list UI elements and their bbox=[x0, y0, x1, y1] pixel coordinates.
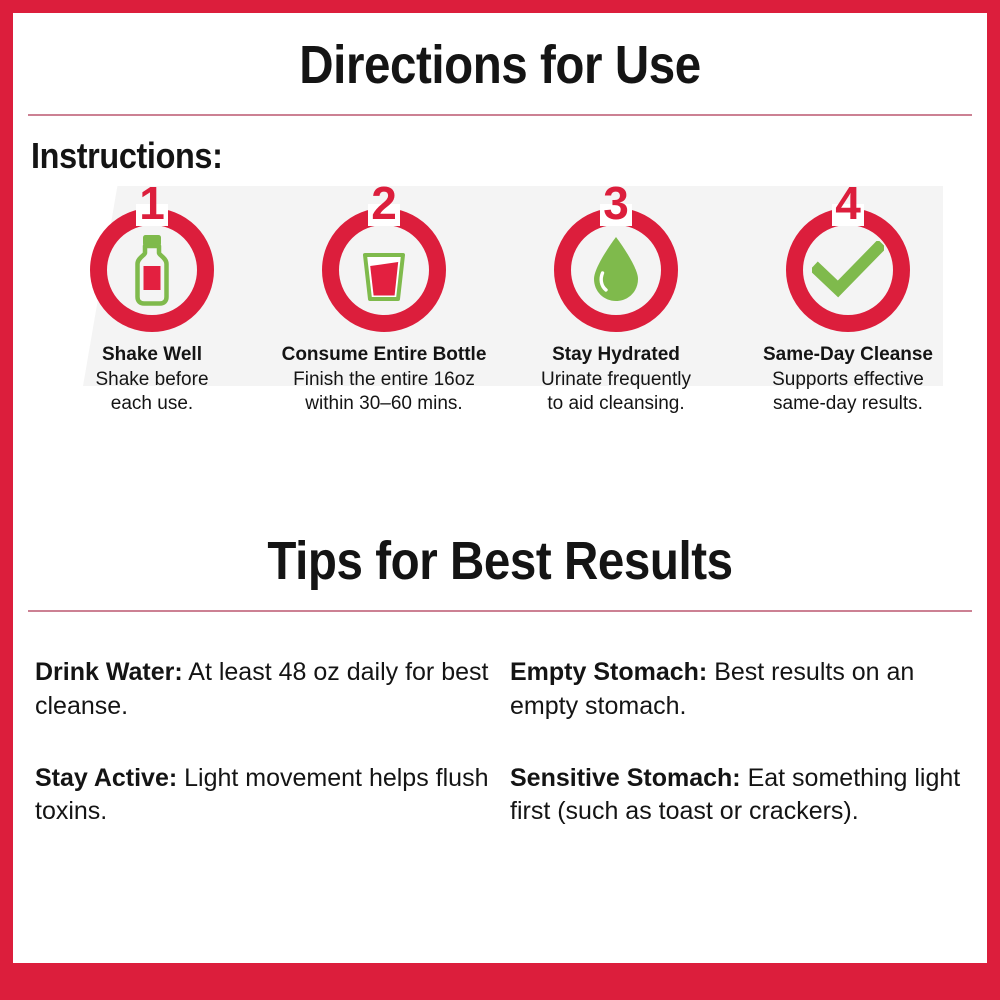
instruction-card: Directions for Use Instructions: 1 bbox=[13, 13, 987, 963]
step-item-1: 1 Shake Well Shake before each use. bbox=[43, 182, 261, 416]
tip-label: Empty Stomach: bbox=[510, 658, 707, 686]
step-name-1: Shake Well bbox=[102, 344, 202, 367]
step-number-4: 4 bbox=[786, 180, 910, 226]
step-desc-1: Shake before each use. bbox=[95, 368, 208, 417]
step-number-2: 2 bbox=[322, 180, 446, 226]
step-name-2: Consume Entire Bottle bbox=[282, 344, 487, 367]
step-name-4: Same-Day Cleanse bbox=[763, 344, 933, 367]
tip-label: Drink Water: bbox=[35, 658, 183, 686]
step-item-2: 2 Consume Entire Bottle Finish the entir… bbox=[275, 182, 493, 416]
step-badge-4: 4 bbox=[786, 182, 910, 332]
steps-section: 1 Shake Well Shake before each use. bbox=[13, 182, 987, 472]
step-badge-2: 2 bbox=[322, 182, 446, 332]
step-name-3: Stay Hydrated bbox=[552, 344, 680, 367]
tips-title: Tips for Best Results bbox=[71, 534, 928, 588]
step-badge-1: 1 bbox=[90, 182, 214, 332]
tip-label: Stay Active: bbox=[35, 764, 177, 792]
step-desc-2: Finish the entire 16oz within 30–60 mins… bbox=[293, 368, 475, 417]
tip-item: Drink Water: At least 48 oz daily for be… bbox=[35, 656, 490, 724]
step-number-1: 1 bbox=[90, 180, 214, 226]
steps-row: 1 Shake Well Shake before each use. bbox=[13, 182, 987, 416]
step-desc-3: Urinate frequently to aid cleansing. bbox=[541, 368, 691, 417]
tip-item: Empty Stomach: Best results on an empty … bbox=[510, 656, 965, 724]
tip-label: Sensitive Stomach: bbox=[510, 764, 741, 792]
step-item-3: 3 Stay Hydrated Urinate frequently to ai… bbox=[507, 182, 725, 416]
tips-grid: Drink Water: At least 48 oz daily for be… bbox=[13, 612, 987, 829]
step-item-4: 4 Same-Day Cleanse Supports effective sa… bbox=[739, 182, 957, 416]
tip-item: Stay Active: Light movement helps flush … bbox=[35, 762, 490, 830]
instructions-label: Instructions: bbox=[13, 116, 890, 174]
step-number-3: 3 bbox=[554, 180, 678, 226]
step-badge-3: 3 bbox=[554, 182, 678, 332]
step-desc-4: Supports effective same-day results. bbox=[772, 368, 924, 417]
page-title: Directions for Use bbox=[71, 13, 928, 92]
tip-item: Sensitive Stomach: Eat something light f… bbox=[510, 762, 965, 830]
